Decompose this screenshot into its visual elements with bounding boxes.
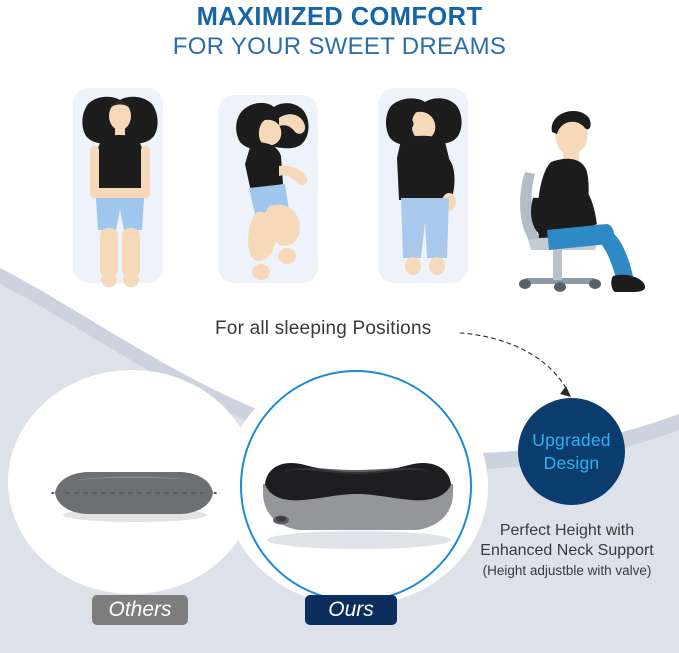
- description-line-2: Enhanced Neck Support: [455, 541, 679, 561]
- pillow-product-ours: [255, 440, 460, 555]
- dashed-arrow-path: [460, 333, 568, 392]
- pillow-product-others: [43, 463, 223, 523]
- product-description: Perfect Height with Enhanced Neck Suppor…: [455, 521, 679, 580]
- pillow-end-left-others: [51, 492, 55, 494]
- pillow-end-right-others: [213, 492, 217, 494]
- badge-line-1: Upgraded: [532, 429, 610, 452]
- arrow-head-shape: [560, 386, 571, 397]
- valve-cap-shape: [276, 516, 286, 522]
- upgraded-design-badge: Upgraded Design: [518, 398, 625, 505]
- description-line-3: (Height adjustble with valve): [455, 561, 679, 580]
- description-line-1: Perfect Height with: [455, 521, 679, 541]
- infographic-page: MAXIMIZED COMFORT FOR YOUR SWEET DREAMS: [0, 0, 679, 653]
- label-ours: Ours: [305, 595, 397, 625]
- badge-line-2: Design: [544, 452, 600, 475]
- pillow-shadow-ours: [267, 531, 451, 549]
- label-others: Others: [92, 595, 188, 625]
